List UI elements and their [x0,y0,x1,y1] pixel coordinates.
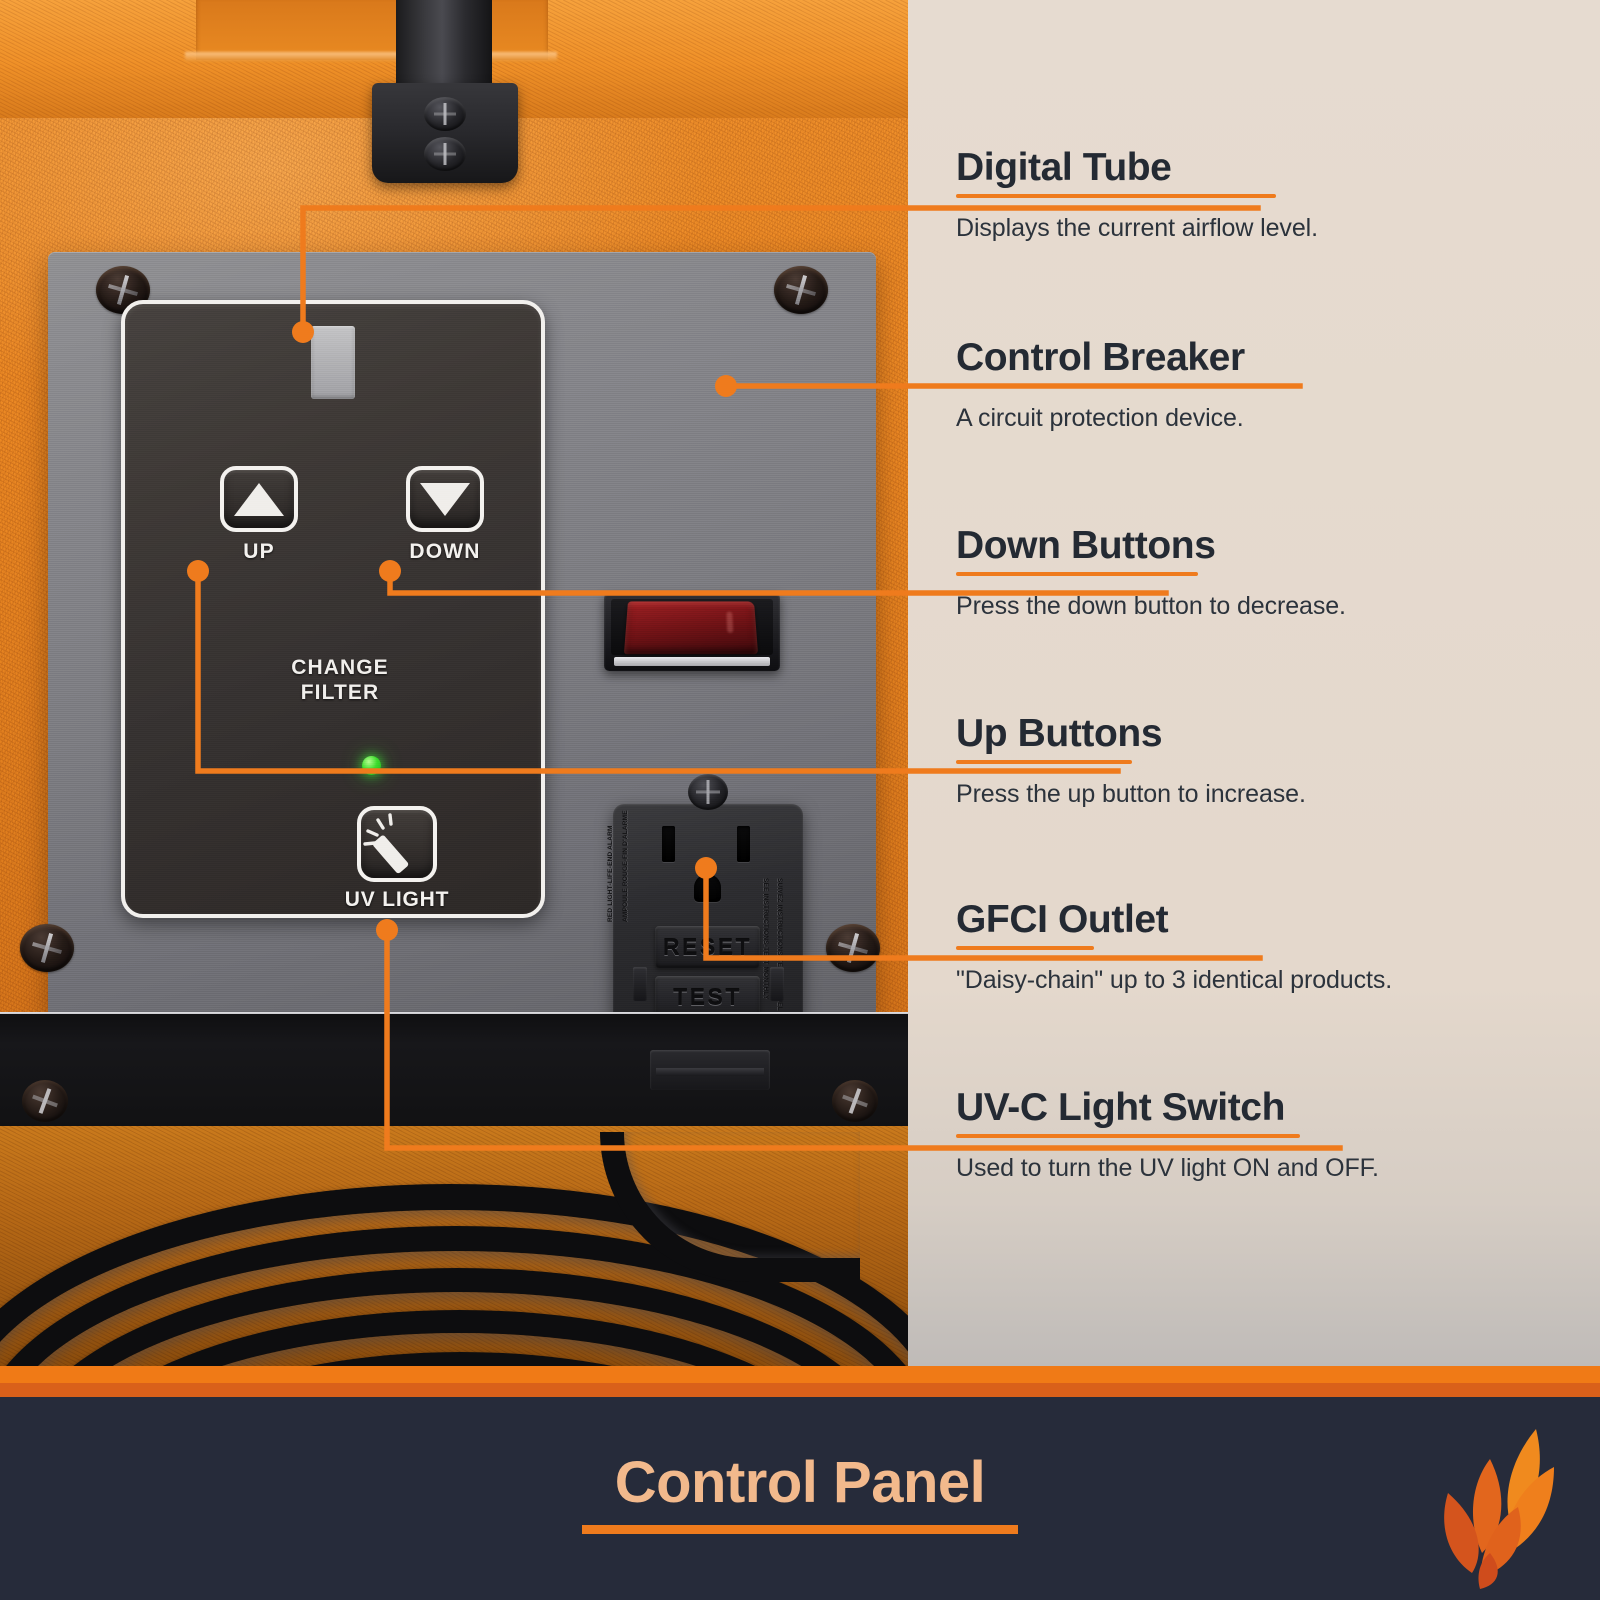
callout-title: UV-C Light Switch [956,1088,1576,1129]
gfci-micro-text-right-2: SUIVEZ INSTRUCTIONS-TEST MENSUEL [776,878,783,1011]
gfci-micro-text-left-2: AMPOULE ROUGE-FIN D'ALARME [622,810,629,922]
triangle-down-icon [420,483,470,516]
housing-recess-highlight [185,52,557,62]
infographic-stage: UP DOWN CHANGE FILTER [0,0,1600,1600]
status-led-indicator [362,756,381,775]
shroud-screw-icon [22,1080,68,1122]
callout-underline [956,760,1132,764]
bracket-screw-icon [424,97,466,131]
keypad-panel: UP DOWN CHANGE FILTER [121,300,545,918]
triangle-up-icon [234,483,284,516]
uv-lamp-icon [361,810,433,878]
up-button[interactable] [220,466,298,532]
callout-title: Up Buttons [956,714,1576,755]
plate-screw-icon [642,924,696,972]
callout-description: Press the up button to increase. [956,780,1576,809]
plate-screw-icon [774,266,828,314]
digital-tube-display [311,326,355,399]
gfci-micro-text-left-1: RED LIGHT-LIFE-END ALARM [607,825,614,922]
receptacle-slot [662,826,675,862]
gfci-screw-icon [688,774,728,810]
callout-title: GFCI Outlet [956,900,1576,941]
callout-up-buttons: Up Buttons Press the up button to increa… [956,714,1576,809]
power-cord-coil [0,1126,908,1366]
callout-underline [956,572,1198,576]
breaker-foot [614,657,770,666]
callout-title: Down Buttons [956,526,1576,567]
housing-handle-notch [196,0,548,60]
callout-description: Used to turn the UV light ON and OFF. [956,1154,1576,1183]
callout-digital-tube: Digital Tube Displays the current airflo… [956,148,1576,243]
product-photo-pane: UP DOWN CHANGE FILTER [0,0,908,1366]
receptacle-ground-hole [694,874,721,902]
cord-wrap-clip [650,1050,770,1090]
flame-logo-icon [1386,1421,1556,1589]
plate-screw-icon [20,924,74,972]
change-filter-line-1: CHANGE [225,656,455,681]
footer-title-underline [582,1525,1018,1534]
change-filter-line-2: FILTER [225,681,455,706]
gfci-side-tab [633,967,647,1001]
down-button-label: DOWN [384,540,506,564]
callout-gfci-outlet: GFCI Outlet "Daisy-chain" up to 3 identi… [956,900,1576,995]
callout-down-buttons: Down Buttons Press the down button to de… [956,526,1576,621]
control-plate: UP DOWN CHANGE FILTER [48,252,876,1017]
gfci-side-tab [770,967,784,1001]
up-button-label: UP [220,540,298,564]
footer-banner: Control Panel [0,1397,1600,1600]
callout-description: Displays the current airflow level. [956,214,1576,243]
separator-bar-top [0,1366,1600,1383]
plate-screw-icon [826,924,880,972]
control-breaker-switch[interactable] [604,593,780,671]
gfci-reset-button[interactable]: RESET [655,926,760,968]
shroud-screw-icon [832,1080,878,1122]
callout-description: "Daisy-chain" up to 3 identical products… [956,966,1576,995]
receptacle-slot [737,826,750,862]
handle-bracket [372,83,518,183]
callout-info-pane: Digital Tube Displays the current airflo… [908,0,1600,1366]
callout-title: Digital Tube [956,148,1576,189]
plate-screw-icon [96,266,150,314]
callout-description: Press the down button to decrease. [956,592,1576,621]
callout-underline [956,384,1152,388]
callout-underline [956,946,1094,950]
callout-underline [956,194,1276,198]
change-filter-label: CHANGE FILTER [225,656,455,706]
bracket-screw-icon [424,137,466,171]
callout-title: Control Breaker [956,338,1576,379]
callout-uv-c-light-switch: UV-C Light Switch Used to turn the UV li… [956,1088,1576,1183]
uv-light-button[interactable] [357,806,437,882]
receptacle-top[interactable] [613,818,803,914]
footer-title: Control Panel [0,1449,1600,1516]
callout-underline [956,1134,1300,1138]
down-button[interactable] [406,466,484,532]
callout-control-breaker: Control Breaker A circuit protection dev… [956,338,1576,433]
uv-light-label: UV LIGHT [331,888,463,912]
red-rocker-switch-icon [624,601,758,654]
separator-bar-bottom [0,1383,1600,1397]
breaker-bezel [611,599,773,655]
gfci-micro-text-right-1: SEE INSTRUCTIONS-TEST MONTHLY [762,878,769,999]
callout-description: A circuit protection device. [956,404,1576,433]
